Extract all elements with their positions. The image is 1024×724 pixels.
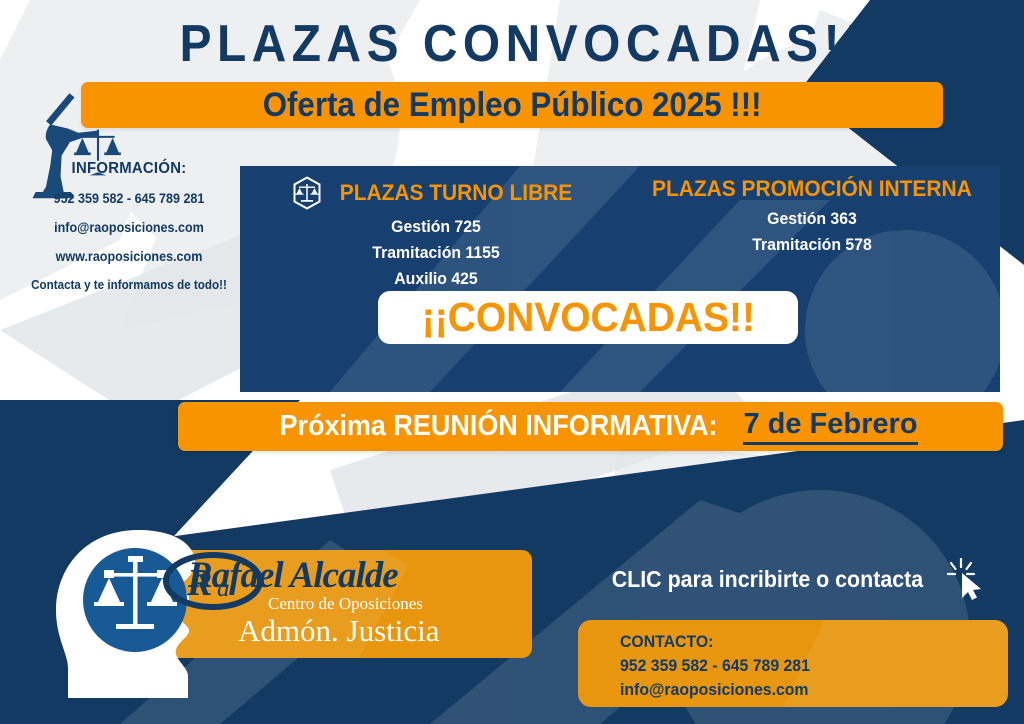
header: PLAZAS CONVOCADAS!! Oferta de Empleo Púb… bbox=[0, 18, 1024, 128]
contact-phones[interactable]: 952 359 582 - 645 789 281 bbox=[620, 654, 981, 678]
ra-monogram-icon: R a bbox=[163, 550, 281, 612]
svg-text:a: a bbox=[217, 575, 230, 602]
column-title: PLAZAS TURNO LIBRE bbox=[339, 180, 572, 206]
cta-label: CLIC para incribirte o contacta bbox=[612, 566, 923, 593]
reunion-label: Próxima REUNIÓN INFORMATIVA: bbox=[280, 410, 718, 443]
information-website[interactable]: www.raoposiciones.com bbox=[26, 249, 232, 264]
convocadas-label: ¡¡CONVOCADAS!! bbox=[421, 294, 754, 341]
convocadas-pill: ¡¡CONVOCADAS!! bbox=[378, 291, 798, 344]
subtitle-banner: Oferta de Empleo Público 2025 !!! bbox=[81, 82, 943, 128]
brand-logo[interactable]: R a Rafael Alcalde Centro de Oposiciones… bbox=[38, 528, 508, 698]
plazas-column-turno-libre: PLAZAS TURNO LIBRE Gestión 725 Tramitaci… bbox=[240, 176, 624, 289]
reunion-date: 7 de Febrero bbox=[743, 408, 917, 445]
contact-email[interactable]: info@raoposiciones.com bbox=[620, 678, 981, 702]
poster-canvas: PLAZAS CONVOCADAS!! Oferta de Empleo Púb… bbox=[0, 0, 1024, 724]
contact-card[interactable]: CONTACTO: 952 359 582 - 645 789 281 info… bbox=[578, 620, 1008, 707]
column-heading: PLAZAS TURNO LIBRE bbox=[248, 176, 624, 210]
subtitle-text: Oferta de Empleo Público 2025 !!! bbox=[263, 86, 762, 125]
reunion-banner: Próxima REUNIÓN INFORMATIVA: 7 de Febrer… bbox=[178, 402, 1003, 451]
plaza-count-line: Auxilio 425 bbox=[261, 269, 611, 289]
information-tagline: Contacta y te informamos de todo!! bbox=[26, 278, 232, 292]
cta-row[interactable]: CLIC para incribirte o contacta bbox=[600, 557, 987, 601]
column-title: PLAZAS PROMOCIÓN INTERNA bbox=[652, 176, 972, 202]
information-phones: 952 359 582 - 645 789 281 bbox=[26, 191, 232, 206]
plaza-count-line: Tramitación 1155 bbox=[261, 243, 611, 263]
information-heading: INFORMACIÓN: bbox=[26, 160, 232, 178]
plazas-columns: PLAZAS TURNO LIBRE Gestión 725 Tramitaci… bbox=[240, 166, 1000, 289]
brand-department: Admón. Justicia bbox=[238, 613, 440, 649]
scales-hexagon-icon bbox=[292, 176, 322, 210]
contact-title: CONTACTO: bbox=[620, 630, 981, 654]
plazas-column-promocion-interna: PLAZAS PROMOCIÓN INTERNA Gestión 363 Tra… bbox=[624, 176, 1000, 289]
page-title: PLAZAS CONVOCADAS!! bbox=[41, 18, 983, 70]
information-block: INFORMACIÓN: 952 359 582 - 645 789 281 i… bbox=[18, 160, 240, 306]
plaza-count-line: Gestión 725 bbox=[261, 217, 611, 237]
plaza-count-line: Tramitación 578 bbox=[637, 235, 987, 255]
plazas-panel: PLAZAS TURNO LIBRE Gestión 725 Tramitaci… bbox=[240, 166, 1000, 392]
click-cursor-icon[interactable] bbox=[947, 557, 987, 601]
svg-text:R: R bbox=[186, 562, 212, 604]
column-heading: PLAZAS PROMOCIÓN INTERNA bbox=[624, 176, 1000, 202]
information-email[interactable]: info@raoposiciones.com bbox=[26, 220, 232, 235]
brand-subtitle: Centro de Oposiciones bbox=[268, 594, 423, 614]
plaza-count-line: Gestión 363 bbox=[637, 209, 987, 229]
